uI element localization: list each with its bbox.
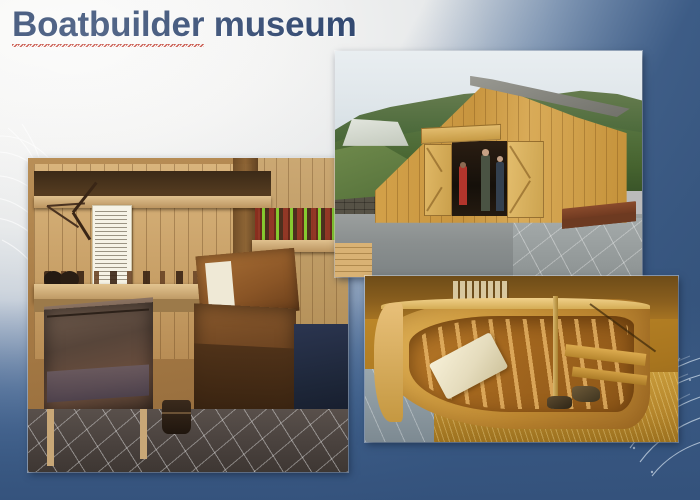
shed-window bbox=[453, 281, 509, 299]
door-right bbox=[507, 141, 544, 218]
workshop-scene bbox=[28, 158, 348, 472]
door-left-brace bbox=[426, 148, 443, 173]
visitor-red bbox=[459, 166, 467, 204]
door-right-brace-2 bbox=[509, 180, 531, 214]
upper-shelf bbox=[34, 196, 271, 209]
photo-workshop-interior[interactable] bbox=[28, 158, 348, 472]
wooden-bucket bbox=[162, 400, 191, 435]
wooden-bucket-band bbox=[162, 412, 191, 414]
presentation-slide: Boatbuilder museum bbox=[0, 0, 700, 500]
boat-gunwale bbox=[381, 298, 650, 310]
tool-chest-right-label bbox=[205, 261, 235, 310]
timber-stack bbox=[335, 243, 372, 277]
boat-scene bbox=[365, 276, 678, 442]
upper-shelf-items bbox=[34, 171, 271, 199]
mast-pole bbox=[553, 296, 558, 396]
door-left bbox=[424, 144, 452, 216]
door-right-brace bbox=[509, 146, 531, 180]
photo-boathouse-exterior[interactable] bbox=[335, 51, 642, 277]
chest-stand-leg-right bbox=[140, 409, 147, 459]
door-left-brace-2 bbox=[426, 187, 443, 212]
visitor-red-head bbox=[460, 162, 466, 168]
visitor-green-head bbox=[482, 149, 489, 155]
visitor-dark bbox=[496, 162, 505, 212]
tool-chest-right-base bbox=[194, 344, 296, 418]
photo-wooden-boat[interactable] bbox=[365, 276, 678, 442]
title-misspelled-word: Boatbuilder bbox=[12, 5, 204, 47]
clamp-tool bbox=[547, 396, 572, 409]
boathouse-scene bbox=[335, 51, 642, 277]
page-title: Boatbuilder museum bbox=[12, 5, 357, 45]
boat-stem bbox=[374, 303, 402, 423]
title-rest: museum bbox=[204, 5, 356, 44]
visitor-green bbox=[481, 155, 491, 212]
anchor bbox=[572, 386, 600, 403]
chest-stand-leg-left bbox=[47, 409, 54, 466]
